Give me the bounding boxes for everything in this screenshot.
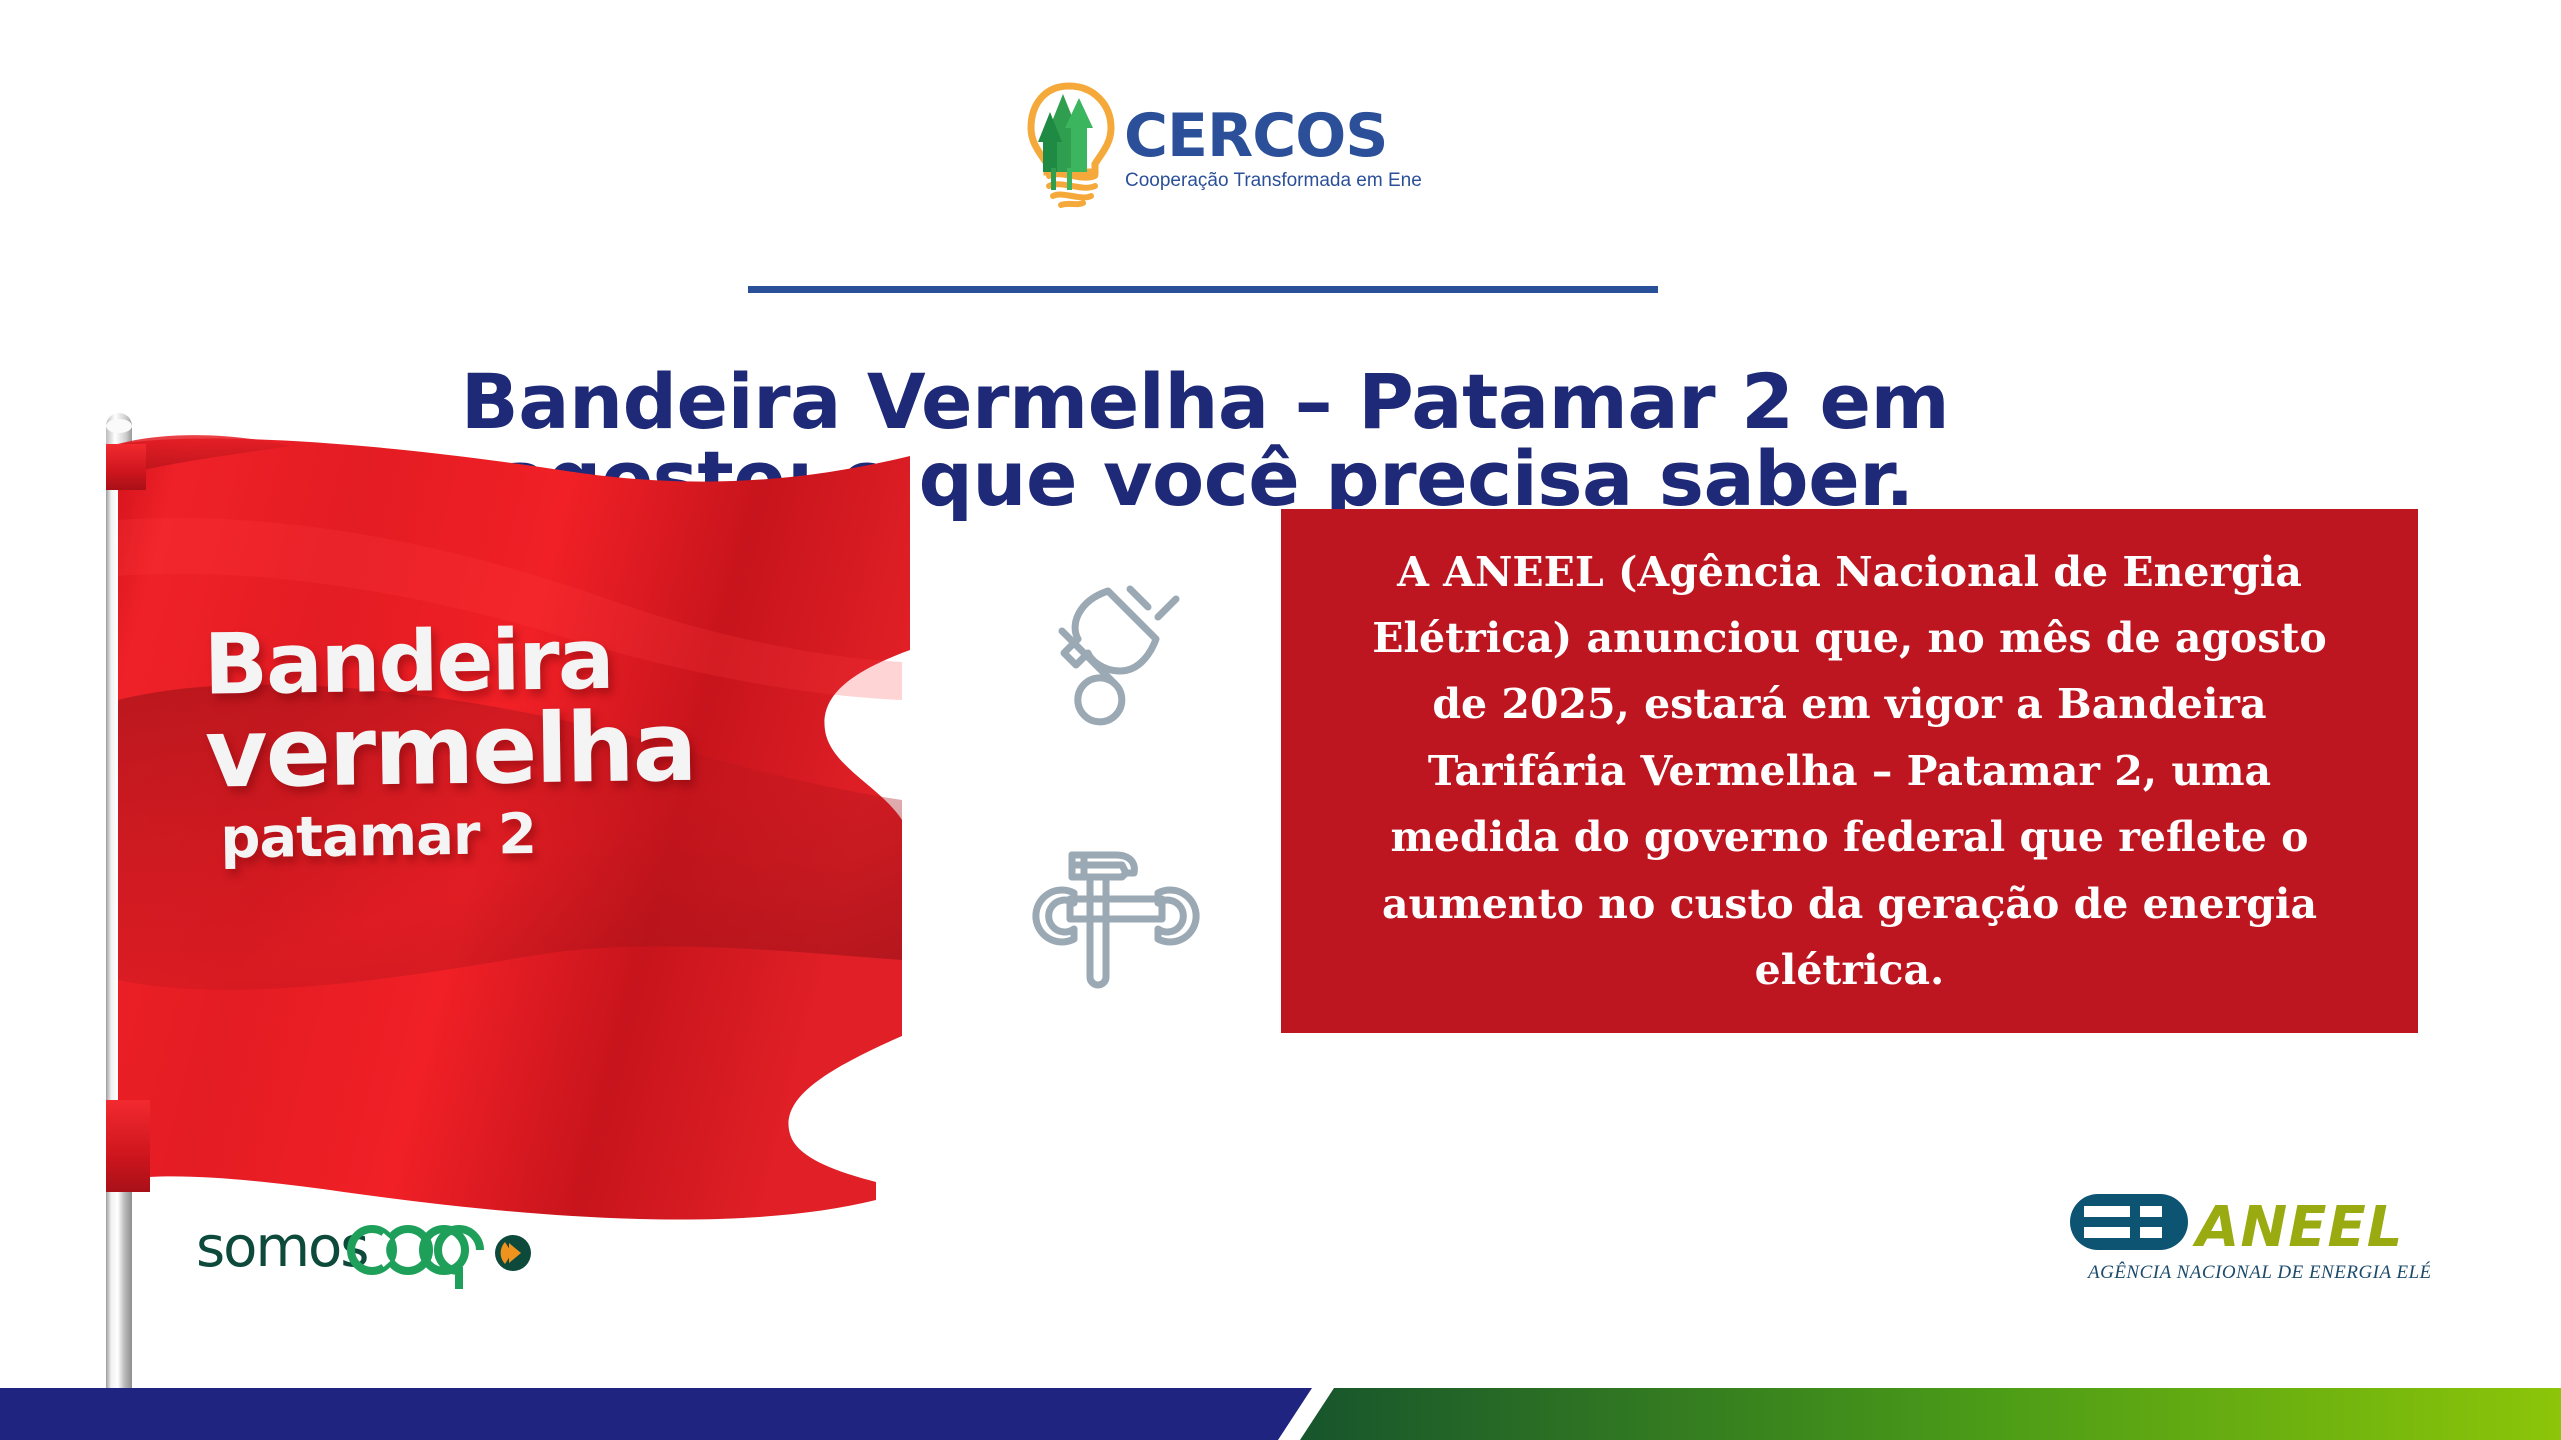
aneel-announcement-callout: A ANEEL (Agência Nacional de Energia Elé… (1281, 509, 2418, 1033)
flag-pole-wrap-bottom (106, 1100, 150, 1192)
title-divider-rule (748, 286, 1658, 293)
cercos-brand-logo: CERCOS Cooperação Transformada em Energi… (1021, 72, 1421, 212)
flag-caption-line-3: patamar 2 (220, 802, 867, 867)
hammer-wrench-tools-icon (1030, 835, 1200, 1005)
aneel-logo: ANEEL AGÊNCIA NACIONAL DE ENERGIA ELÉTRI… (2070, 1188, 2430, 1296)
somoscoop-word-somos: somos (196, 1215, 367, 1280)
aneel-wordmark: ANEEL (2192, 1195, 2403, 1260)
flag-pole-wrap-top (106, 444, 146, 490)
brand-wordmark: CERCOS (1124, 101, 1387, 171)
callout-body-text: A ANEEL (Agência Nacional de Energia Elé… (1339, 539, 2360, 1004)
somoscoop-logo: somos (196, 1206, 546, 1296)
brand-tagline: Cooperação Transformada em Energia (1125, 170, 1421, 191)
flag-caption-line-2: vermelha (205, 699, 866, 801)
bottom-accent-bar (0, 1388, 2561, 1440)
somoscoop-mark-icon (495, 1235, 531, 1271)
bottom-bar-left-segment (0, 1388, 1312, 1440)
lightbulb-with-trees-icon (1031, 86, 1111, 205)
somoscoop-word-coop (351, 1229, 480, 1289)
aneel-subtitle: AGÊNCIA NACIONAL DE ENERGIA ELÉTRICA (2086, 1261, 2430, 1283)
bottom-bar-right-segment (1300, 1388, 2561, 1440)
power-plug-icon (1030, 575, 1200, 735)
flag-caption: Bandeira vermelha patamar 2 (203, 615, 866, 867)
aneel-plug-prongs-icon (2070, 1194, 2188, 1250)
